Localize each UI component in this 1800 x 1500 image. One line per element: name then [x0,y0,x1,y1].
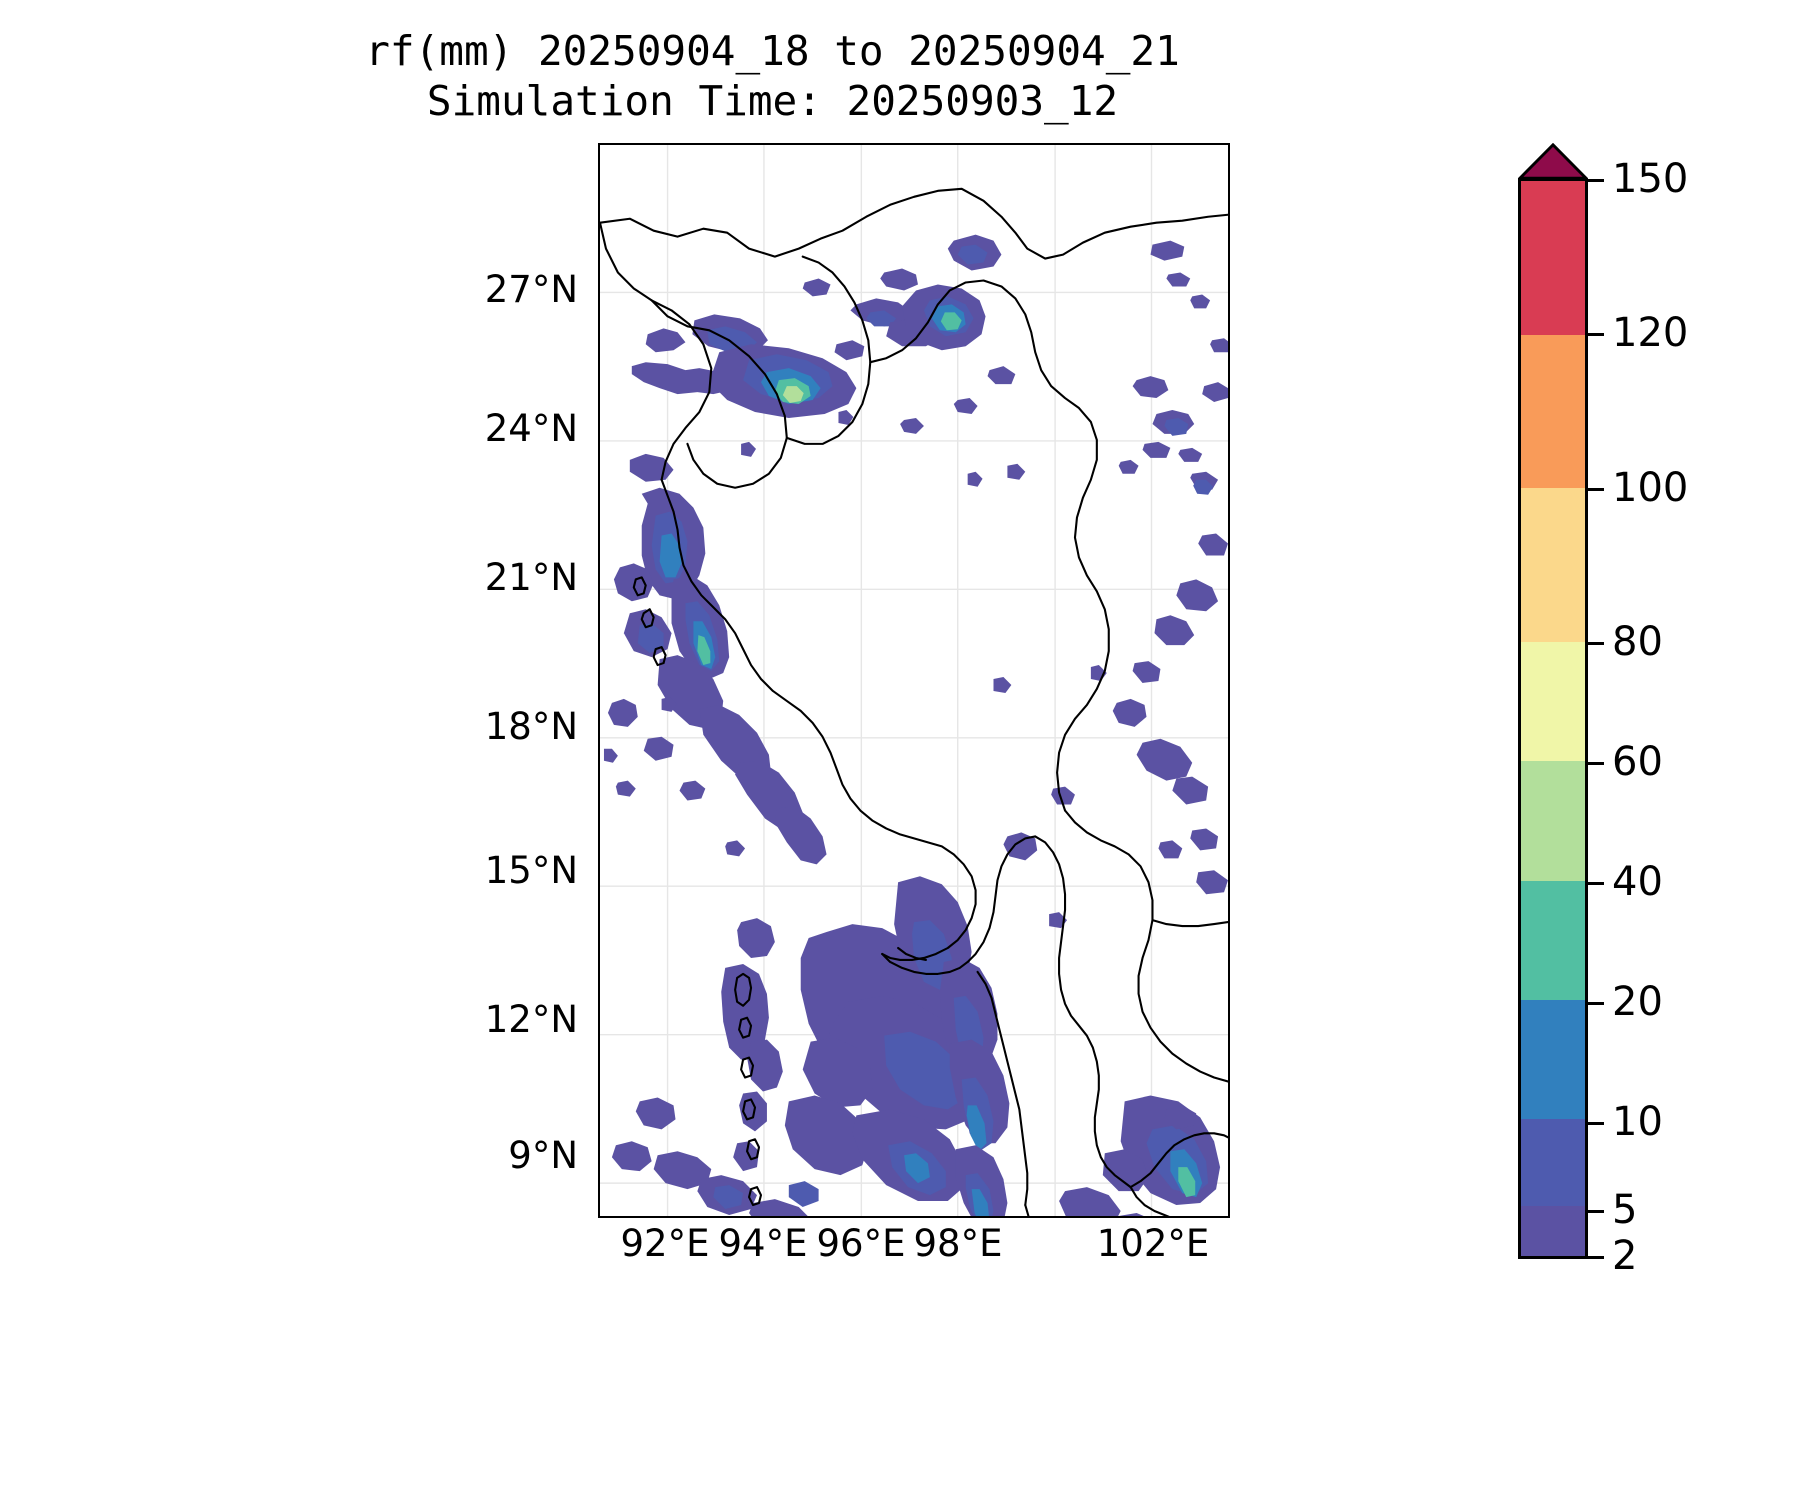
colorbar-label-5: 5 [1612,1190,1637,1230]
colorbar-band-80-100 [1521,488,1585,642]
colorbar-band-100-120 [1521,335,1585,489]
colorbar-tick-5 [1588,1210,1604,1213]
colorbar-label-120: 120 [1612,313,1688,353]
colorbar-tick-40 [1588,882,1604,885]
colorbar-over-arrow [1518,143,1588,180]
lat-tick-label-12n: 12°N [408,998,578,1041]
colorbar-band-2-5 [1521,1206,1585,1259]
colorbar-tick-2 [1588,1256,1604,1259]
colorbar-tick-100 [1588,488,1604,491]
lon-tick-label-98e: 98°E [858,1222,1058,1265]
title-line-2: Simulation Time: 20250903_12 [0,76,1545,126]
colorbar-tick-60 [1588,762,1604,765]
colorbar-band-120-150 [1521,181,1585,335]
lat-tick-label-15n: 15°N [408,849,578,892]
map-canvas [600,145,1228,1216]
rainfall-contour-field [604,235,1228,1216]
colorbar-label-20: 20 [1612,982,1663,1022]
colorbar-label-100: 100 [1612,468,1688,508]
colorbar-band-5-10 [1521,1119,1585,1206]
colorbar-label-40: 40 [1612,862,1663,902]
map-clip [600,145,1228,1216]
lat-tick-label-27n: 27°N [408,268,578,311]
lon-tick-label-102e: 102°E [1053,1222,1253,1265]
colorbar-tick-80 [1588,642,1604,645]
colorbar-label-60: 60 [1612,742,1663,782]
colorbar-gradient [1518,178,1588,1259]
colorbar-label-2: 2 [1612,1236,1637,1276]
colorbar-band-20-40 [1521,881,1585,1000]
lat-tick-label-21n: 21°N [408,556,578,599]
colorbar-tick-150 [1588,179,1604,182]
colorbar[interactable]: 150 120 100 80 60 40 20 10 5 2 [1500,143,1800,1308]
colorbar-band-40-60 [1521,761,1585,880]
colorbar-label-80: 80 [1612,622,1663,662]
chart-title: rf(mm) 20250904_18 to 20250904_21 Simula… [0,26,1545,126]
colorbar-band-60-80 [1521,642,1585,761]
title-line-1: rf(mm) 20250904_18 to 20250904_21 [0,26,1545,76]
colorbar-label-10: 10 [1612,1102,1663,1142]
colorbar-band-10-20 [1521,1000,1585,1119]
colorbar-label-150: 150 [1612,159,1688,199]
colorbar-tick-20 [1588,1002,1604,1005]
colorbar-tick-10 [1588,1122,1604,1125]
map-plot-area [598,143,1230,1218]
colorbar-tick-120 [1588,333,1604,336]
lat-tick-label-24n: 24°N [408,407,578,450]
lat-tick-label-9n: 9°N [408,1134,578,1177]
lat-tick-label-18n: 18°N [408,705,578,748]
